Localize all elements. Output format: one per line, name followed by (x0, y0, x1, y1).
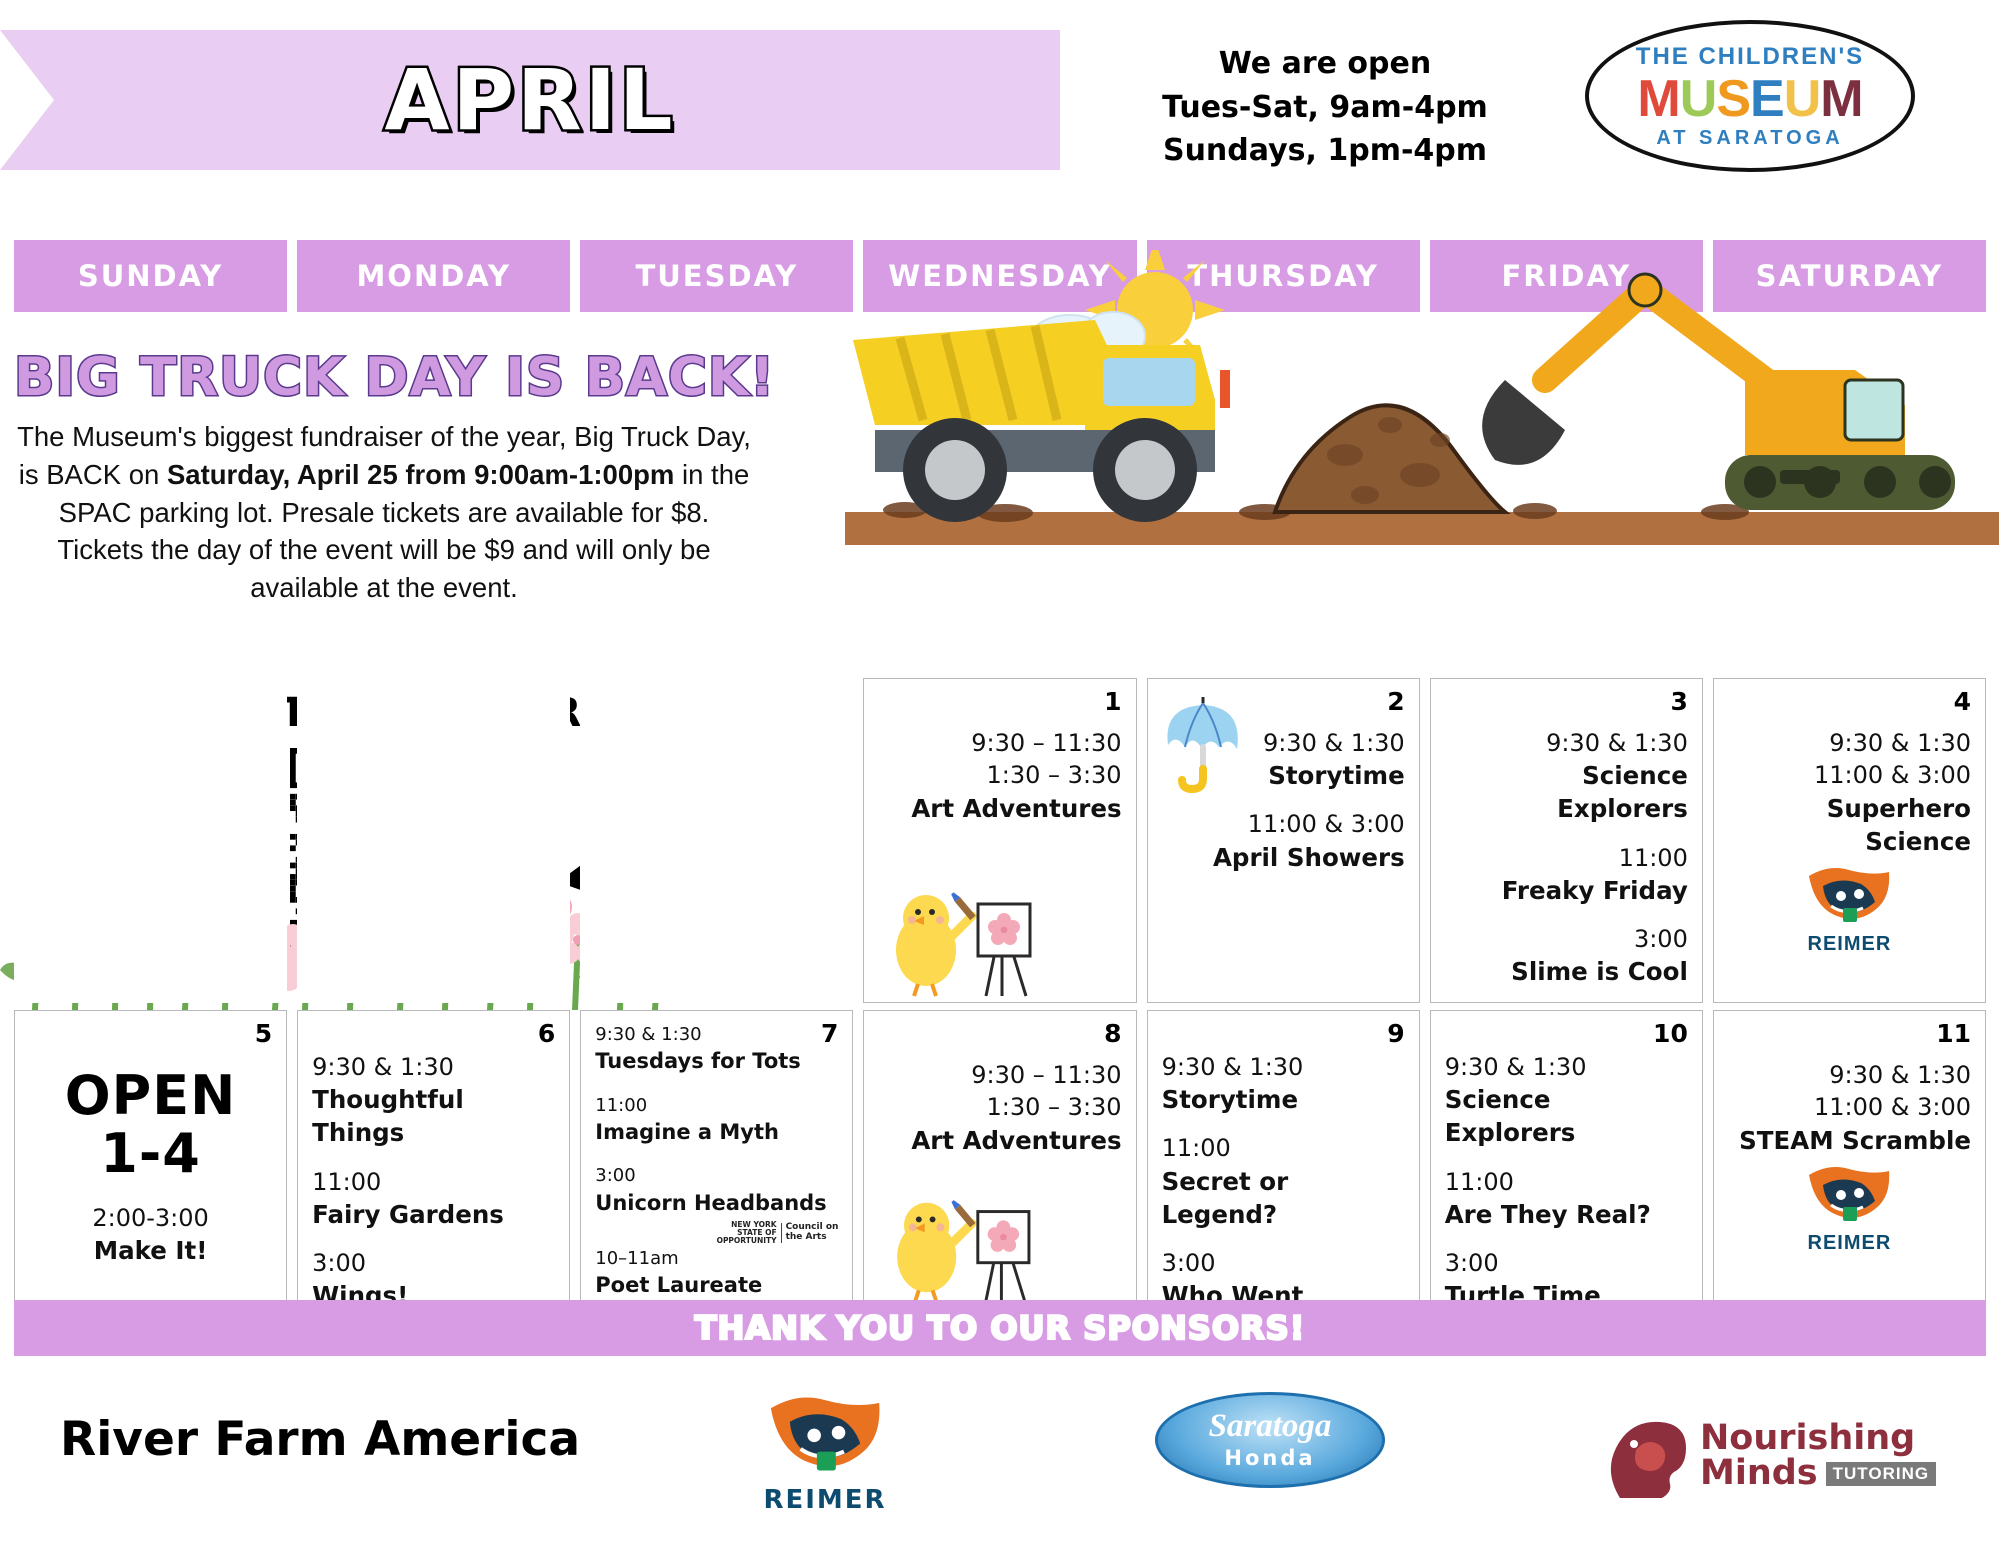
event-name: Tuesdays for Tots (595, 1047, 838, 1075)
event-time: 3:00 (312, 1247, 555, 1279)
honda-oval-logo: Saratoga Honda (1155, 1392, 1385, 1488)
event-time: 11:00 (1445, 1166, 1688, 1198)
event-list: 9:30 & 1:30 Thoughtful Things 11:00 Fair… (312, 1051, 555, 1305)
reimer-logo: REIMER (1789, 864, 1909, 956)
event-time: 9:30 & 1:30 (1445, 1051, 1688, 1083)
logo-bottom-text: AT SARATOGA (1656, 127, 1843, 150)
hours-block: We are open Tues-Sat, 9am-4pm Sundays, 1… (1130, 42, 1520, 173)
event-time: 11:00 (1445, 842, 1688, 874)
event-name: Secret or Legend? (1162, 1165, 1405, 1231)
event-time: 9:30 – 11:30 (878, 1059, 1121, 1091)
event-name: Science Explorers (1445, 759, 1688, 825)
nourishing-line-2: Minds (1700, 1456, 1818, 1491)
day-number: 3 (1670, 687, 1687, 716)
chick-painting-icon (874, 878, 1059, 998)
sponsor-nourishing-minds: Nourishing Minds TUTORING (1600, 1410, 1936, 1502)
reimer-mascot-icon (760, 1388, 890, 1480)
event-time: 11:00 & 3:00 (1728, 759, 1971, 791)
calendar-cell-day-3[interactable]: 3 9:30 & 1:30 Science Explorers 11:00 Fr… (1430, 678, 1703, 1003)
sponsor-river-farm-america: River Farm America (60, 1412, 580, 1467)
reimer-mascot-icon (1801, 1163, 1897, 1225)
calendar-page: APRIL We are open Tues-Sat, 9am-4pm Sund… (0, 0, 1999, 1545)
nysca-right-text: Council onthe Arts (786, 1223, 839, 1242)
page-title: APRIL (0, 30, 1060, 170)
event-name: Make It! (29, 1234, 272, 1267)
event-time: 3:00 (1445, 1247, 1688, 1279)
day-number: 1 (1104, 687, 1121, 716)
calendar-week-2: 5 OPEN1-4 2:00-3:00 Make It! 6 9:30 & 1:… (14, 1010, 1986, 1305)
event-time: 11:00 (595, 1094, 838, 1118)
calendar-cell-day-7[interactable]: 7 9:30 & 1:30 Tuesdays for Tots 11:00 Im… (580, 1010, 853, 1305)
sponsor-reimer: REIMER (760, 1388, 890, 1515)
calendar-cell-empty-1 (14, 678, 287, 1003)
calendar-cell-day-2[interactable]: 2 9:30 & 1:30 Storytime 11:00 & 3:00 Apr… (1147, 678, 1420, 1003)
hours-line-1: We are open (1130, 42, 1520, 86)
event-time: 3:00 (595, 1164, 838, 1188)
event-list: 9:30 – 11:30 1:30 – 3:30 Art Adventures (878, 1059, 1121, 1157)
hours-line-2: Tues-Sat, 9am-4pm (1130, 86, 1520, 130)
day-number: 2 (1387, 687, 1404, 716)
calendar-cell-day-9[interactable]: 9 9:30 & 1:30 Storytime 11:00 Secret or … (1147, 1010, 1420, 1305)
event-time: 3:00 (1162, 1247, 1405, 1279)
sponsor-bar-text: THANK YOU TO OUR SPONSORS! (695, 1309, 1306, 1347)
feature-body: The Museum's biggest fundraiser of the y… (14, 418, 754, 608)
reimer-mascot-icon (1801, 864, 1897, 926)
honda-script-text: Saratoga (1209, 1410, 1332, 1443)
event-time: 2:00-3:00 (29, 1202, 272, 1234)
event-name: Slime is Cool (1445, 955, 1688, 988)
calendar-cell-day-6[interactable]: 6 9:30 & 1:30 Thoughtful Things 11:00 Fa… (297, 1010, 570, 1305)
umbrella-icon (1160, 697, 1260, 797)
event-name: Storytime (1162, 1083, 1405, 1116)
event-time: 9:30 & 1:30 (1445, 727, 1688, 759)
event-list: 9:30 & 1:30 Science Explorers 11:00 Frea… (1445, 727, 1688, 988)
dump-truck-icon (853, 320, 1230, 522)
feature-title: BIG TRUCK DAY IS BACK! (14, 350, 794, 406)
event-name: April Showers (1162, 841, 1405, 874)
sponsor-bar: THANK YOU TO OUR SPONSORS! (14, 1300, 1986, 1356)
nysca-divider (781, 1223, 782, 1243)
calendar-week-1: 1 9:30 – 11:30 1:30 – 3:30 Art Adventure… (14, 678, 1986, 1003)
event-name: STEAM Scramble (1728, 1124, 1971, 1157)
day-number: 8 (1104, 1019, 1121, 1048)
event-time: 9:30 & 1:30 (1162, 1051, 1405, 1083)
event-time: 9:30 & 1:30 (1728, 1059, 1971, 1091)
day-number: 5 (255, 1019, 272, 1048)
event-time: 9:30 – 11:30 (878, 727, 1121, 759)
event-time: 11:00 (312, 1166, 555, 1198)
calendar-cell-day-4[interactable]: 4 9:30 & 1:30 11:00 & 3:00 Superhero Sci… (1713, 678, 1986, 1003)
day-number: 4 (1954, 687, 1971, 716)
honda-word-text: Honda (1224, 1446, 1315, 1470)
reimer-label: REIMER (760, 1485, 890, 1515)
sponsor-saratoga-honda: Saratoga Honda (1155, 1392, 1385, 1488)
reimer-logo: REIMER (1789, 1163, 1909, 1255)
day-number: 10 (1653, 1019, 1688, 1048)
event-list: 9:30 – 11:30 1:30 – 3:30 Art Adventures (878, 727, 1121, 825)
event-name: Fairy Gardens (312, 1198, 555, 1231)
event-name: Are They Real? (1445, 1198, 1688, 1231)
nourishing-tag: TUTORING (1826, 1462, 1936, 1486)
construction-scene-illustration (845, 250, 1999, 560)
head-profile-icon (1600, 1410, 1690, 1502)
reimer-label: REIMER (1789, 933, 1909, 956)
open-hours-big: OPEN1-4 (29, 1067, 272, 1184)
event-time: 9:30 & 1:30 (595, 1023, 838, 1047)
event-list: 9:30 & 1:30 11:00 & 3:00 Superhero Scien… (1728, 727, 1971, 858)
feature-body-bold: Saturday, April 25 from 9:00am-1:00pm (167, 459, 674, 490)
event-time: 9:30 & 1:30 (1728, 727, 1971, 759)
day-header-monday: MONDAY (297, 240, 570, 312)
day-number: 9 (1387, 1019, 1404, 1048)
event-time: 11:00 & 3:00 (1728, 1091, 1971, 1123)
day-number: 6 (538, 1019, 555, 1048)
calendar-cell-day-1[interactable]: 1 9:30 – 11:30 1:30 – 3:30 Art Adventure… (863, 678, 1136, 1003)
event-name: Freaky Friday (1445, 874, 1688, 907)
event-name: Science Explorers (1445, 1083, 1688, 1149)
event-name: Superhero Science (1728, 792, 1971, 858)
day-header-tuesday: TUESDAY (580, 240, 853, 312)
event-time: 11:00 (1162, 1132, 1405, 1164)
dirt-pile-icon (1275, 405, 1505, 512)
calendar-cell-day-5[interactable]: 5 OPEN1-4 2:00-3:00 Make It! (14, 1010, 287, 1305)
nysca-left-text: NEW YORKSTATE OFOPPORTUNITY (717, 1221, 777, 1245)
event-time: 1:30 – 3:30 (878, 1091, 1121, 1123)
nourishing-line-1: Nourishing (1700, 1421, 1936, 1456)
chick-painting-icon (874, 1186, 1059, 1304)
feature-block: BIG TRUCK DAY IS BACK! The Museum's bigg… (14, 350, 794, 607)
event-list: 9:30 & 1:30 Storytime 11:00 Secret or Le… (1162, 1051, 1405, 1305)
event-time: 3:00 (1445, 923, 1688, 955)
day-number: 11 (1936, 1019, 1971, 1048)
hours-line-3: Sundays, 1pm-4pm (1130, 129, 1520, 173)
chick (896, 891, 976, 996)
event-time: 11:00 & 3:00 (1162, 808, 1405, 840)
event-time: 10–11am (595, 1247, 838, 1271)
excavator-icon (1482, 274, 1955, 510)
calendar-cell-empty-2 (297, 678, 570, 1003)
sponsors-row: River Farm America REIMER Saratoga Honda (0, 1370, 1999, 1545)
day-number: 7 (821, 1019, 838, 1048)
event-name: Thoughtful Things (312, 1083, 555, 1149)
event-time: 1:30 – 3:30 (878, 759, 1121, 791)
logo-museum-text: MUSEUM (1637, 73, 1862, 125)
calendar-cell-day-8[interactable]: 8 9:30 – 11:30 1:30 – 3:30 Art Adventure… (863, 1010, 1136, 1305)
event-name: Art Adventures (878, 792, 1121, 825)
event-name: Art Adventures (878, 1124, 1121, 1157)
museum-logo: THE CHILDREN'S MUSEUM AT SARATOGA (1585, 20, 1915, 172)
calendar-cell-day-10[interactable]: 10 9:30 & 1:30 Science Explorers 11:00 A… (1430, 1010, 1703, 1305)
reimer-label: REIMER (1789, 1232, 1909, 1255)
event-list: 9:30 & 1:30 11:00 & 3:00 STEAM Scramble (1728, 1059, 1971, 1157)
event-list: 9:30 & 1:30 Science Explorers 11:00 Are … (1445, 1051, 1688, 1305)
event-name: Imagine a Myth (595, 1118, 838, 1146)
event-list: 9:30 & 1:30 Tuesdays for Tots 11:00 Imag… (595, 1023, 838, 1305)
calendar-cell-day-11[interactable]: 11 9:30 & 1:30 11:00 & 3:00 STEAM Scramb… (1713, 1010, 1986, 1305)
event-list: 2:00-3:00 Make It! (29, 1202, 272, 1267)
logo-top-text: THE CHILDREN'S (1636, 43, 1864, 71)
event-name: Unicorn Headbands (595, 1189, 838, 1217)
calendar-cell-empty-3 (580, 678, 853, 1003)
nysca-logo: NEW YORKSTATE OFOPPORTUNITY Council onth… (595, 1221, 838, 1245)
event-time: 9:30 & 1:30 (312, 1051, 555, 1083)
day-header-sunday: SUNDAY (14, 240, 287, 312)
